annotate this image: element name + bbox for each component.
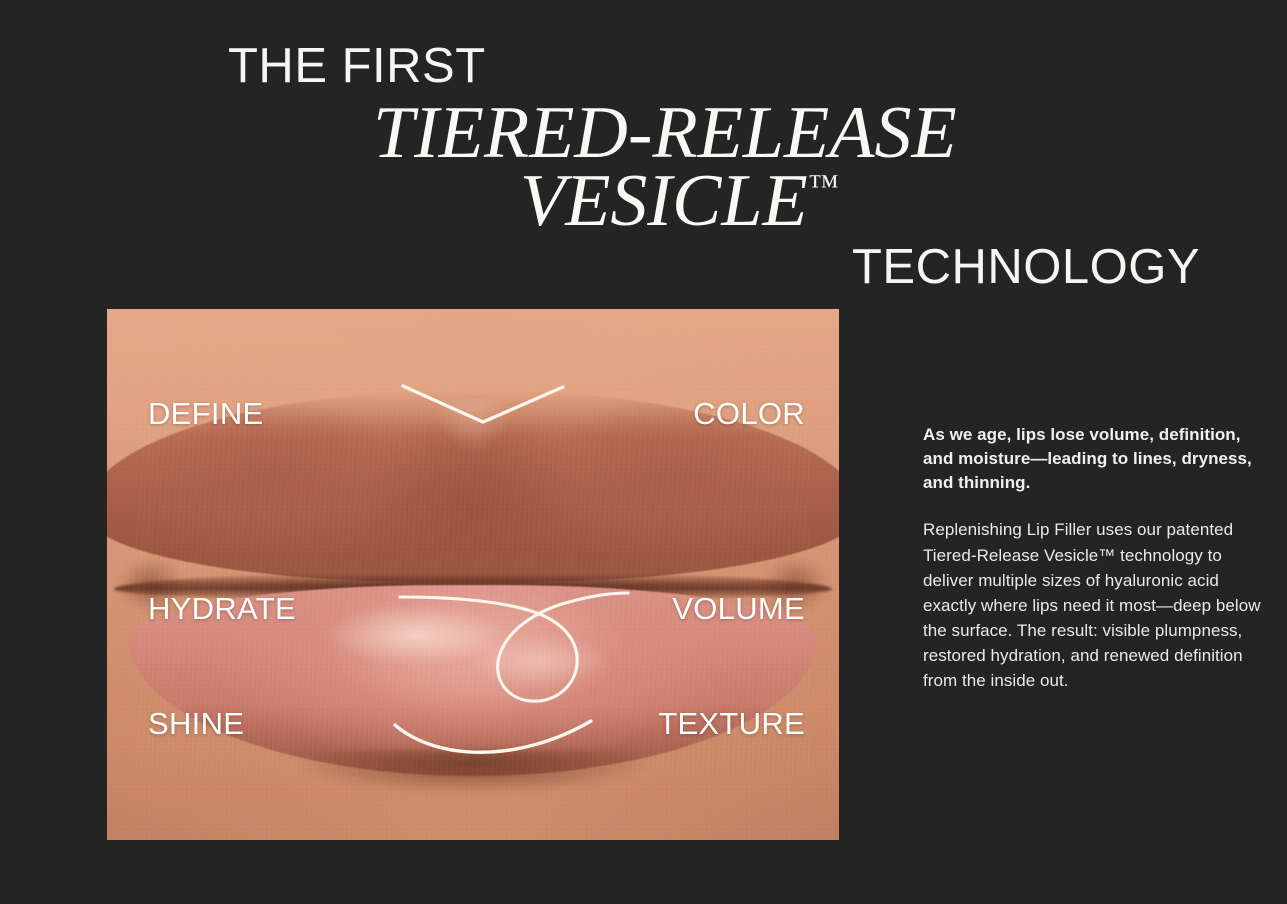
volume-loop-icon	[400, 593, 628, 701]
body-paragraph: Replenishing Lip Filler uses our patente…	[923, 517, 1271, 693]
cupids-bow-chevron-icon	[403, 386, 563, 422]
headline-block: THE FIRST TIERED-RELEASE VESICLE™ TECHNO…	[0, 0, 1287, 300]
lips-photo-panel: DEFINE COLOR HYDRATE VOLUME SHINE TEXTUR…	[107, 309, 839, 840]
shine-arc-icon	[395, 721, 591, 752]
headline-line-technology: TECHNOLOGY	[852, 243, 1200, 292]
feature-label-hydrate: HYDRATE	[148, 593, 296, 624]
lead-paragraph: As we age, lips lose volume, definition,…	[923, 423, 1271, 495]
description-copy-block: As we age, lips lose volume, definition,…	[923, 423, 1271, 693]
headline-line-vesicle: VESICLE™	[520, 164, 838, 238]
headline-vesicle-word: VESICLE	[520, 160, 808, 242]
feature-label-define: DEFINE	[148, 398, 263, 429]
feature-label-color: COLOR	[693, 398, 805, 429]
headline-line-the-first: THE FIRST	[228, 42, 486, 91]
trademark-symbol: ™	[808, 167, 838, 202]
feature-label-volume: VOLUME	[672, 593, 805, 624]
headline-line-tiered-release: TIERED-RELEASE	[373, 96, 957, 170]
feature-label-texture: TEXTURE	[658, 708, 805, 739]
lip-filler-technology-page: { "background_color": "#242424", "headli…	[0, 0, 1287, 904]
feature-label-shine: SHINE	[148, 708, 244, 739]
line-art-overlay	[107, 309, 839, 840]
